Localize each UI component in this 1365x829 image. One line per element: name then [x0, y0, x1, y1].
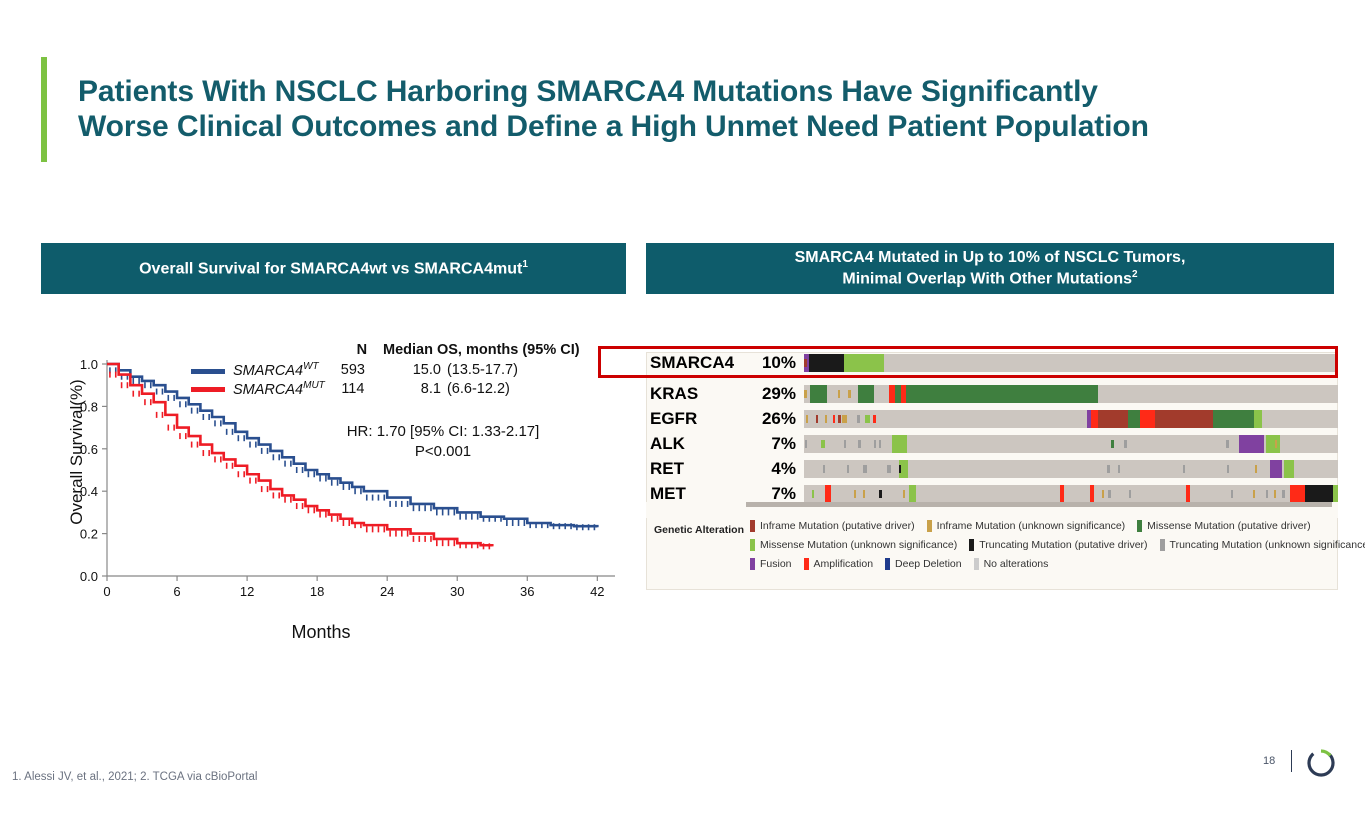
alteration-cell — [847, 465, 849, 473]
alteration-cell — [1226, 440, 1229, 448]
alteration-cell — [863, 490, 866, 498]
gene-percentage: 7% — [742, 433, 796, 455]
legend-swatch — [750, 558, 755, 570]
oncoprint-row-smarca4: SMARCA410% — [646, 352, 1338, 374]
km-legend-swatch-mut — [191, 387, 225, 392]
legend-divider — [746, 502, 1332, 507]
panel-header-mutation-frequency: SMARCA4 Mutated in Up to 10% of NSCLC Tu… — [646, 243, 1334, 294]
alteration-cell — [1118, 465, 1120, 473]
alteration-cell — [825, 415, 827, 423]
alteration-cell — [1266, 490, 1268, 498]
gene-percentage: 29% — [742, 383, 796, 405]
alteration-cell — [874, 440, 876, 448]
alteration-cell — [1107, 465, 1110, 473]
alteration-track — [804, 354, 1338, 372]
y-axis-label: Overall Survival(%) — [67, 352, 87, 552]
oncoprint-row-ret: RET4% — [646, 458, 1338, 480]
km-legend-swatch-wt — [191, 369, 225, 374]
oncoprint-row-egfr: EGFR26% — [646, 408, 1338, 430]
legend-label: Truncating Mutation (unknown significanc… — [1170, 539, 1365, 551]
legend-label: Missense Mutation (unknown significance) — [760, 539, 957, 551]
km-legend-label-wt: SMARCA4 — [233, 363, 303, 379]
alteration-cell — [1239, 435, 1264, 453]
alteration-cell — [854, 490, 856, 498]
km-legend-row-wt: SMARCA4WT 593 15.0 (13.5-17.7) — [191, 361, 580, 380]
legend-item: Missense Mutation (putative driver) — [1137, 520, 1310, 532]
alteration-track — [804, 410, 1338, 428]
legend-swatch — [885, 558, 890, 570]
legend-swatch — [1160, 539, 1165, 551]
legend-item: Inframe Mutation (putative driver) — [750, 520, 915, 532]
alteration-cell — [1128, 410, 1141, 428]
alteration-cell — [1266, 435, 1280, 453]
x-tick-label: 36 — [520, 584, 534, 599]
p-value-text: P<0.001 — [313, 442, 573, 462]
legend-swatch — [804, 558, 809, 570]
legend-item: Deep Deletion — [885, 558, 962, 570]
alteration-track — [804, 485, 1338, 503]
alteration-cell — [1274, 490, 1276, 498]
km-legend-n-wt: 593 — [341, 361, 383, 380]
alteration-track — [804, 385, 1338, 403]
gene-label: KRAS — [650, 383, 742, 405]
alteration-cell — [899, 465, 901, 473]
legend-row: Inframe Mutation (putative driver)Infram… — [750, 520, 1336, 532]
alteration-cell — [1227, 465, 1229, 473]
alteration-track — [804, 435, 1338, 453]
km-legend-ci-mut: (6.6-12.2) — [447, 380, 580, 399]
km-legend-label-mut: SMARCA4 — [233, 382, 303, 398]
alteration-cell — [873, 415, 875, 423]
alteration-cell — [1129, 490, 1131, 498]
x-tick-label: 6 — [173, 584, 180, 599]
gene-label: ALK — [650, 433, 742, 455]
page-title-line-1: Patients With NSCLC Harboring SMARCA4 Mu… — [78, 75, 1258, 110]
alteration-cell — [863, 465, 867, 473]
legend-item: Missense Mutation (unknown significance) — [750, 539, 957, 551]
alteration-cell — [906, 385, 1098, 403]
y-tick-label: 0.0 — [80, 569, 98, 584]
legend-items-container: Inframe Mutation (putative driver)Infram… — [750, 520, 1336, 577]
x-tick-label: 30 — [450, 584, 464, 599]
alteration-cell — [909, 485, 916, 503]
legend-row: FusionAmplificationDeep DeletionNo alter… — [750, 558, 1336, 570]
gene-label: RET — [650, 458, 742, 480]
alteration-cell — [833, 415, 835, 423]
legend-label: No alterations — [984, 558, 1049, 570]
page-title: Patients With NSCLC Harboring SMARCA4 Mu… — [78, 75, 1258, 145]
alteration-cell — [879, 490, 882, 498]
km-statistics: HR: 1.70 [95% CI: 1.33-2.17] P<0.001 — [313, 422, 573, 463]
gene-percentage: 26% — [742, 408, 796, 430]
alteration-cell — [1275, 440, 1277, 448]
alteration-cell — [1102, 490, 1104, 498]
alteration-cell — [1060, 485, 1063, 503]
oncoprint-row-kras: KRAS29% — [646, 383, 1338, 405]
alteration-cell — [842, 415, 847, 423]
alteration-cell — [804, 390, 807, 398]
alteration-cell — [887, 465, 891, 473]
footnote-references: 1. Alessi JV, et al., 2021; 2. TCGA via … — [12, 771, 257, 783]
alteration-cell — [879, 440, 881, 448]
legend-swatch — [750, 520, 755, 532]
alteration-cell — [858, 385, 874, 403]
x-tick-label: 24 — [380, 584, 394, 599]
alteration-cell — [892, 435, 907, 453]
km-legend-header-n: N — [341, 342, 383, 361]
legend-item: Fusion — [750, 558, 792, 570]
alteration-cell — [1090, 485, 1094, 503]
legend-label: Inframe Mutation (unknown significance) — [937, 520, 1126, 532]
alteration-cell — [812, 490, 814, 498]
alteration-cell — [1270, 460, 1282, 478]
alteration-cell — [1213, 410, 1256, 428]
company-logo-ring-icon — [1303, 745, 1339, 781]
alteration-cell — [1253, 490, 1255, 498]
alteration-cell — [1155, 410, 1219, 428]
x-tick-label: 18 — [310, 584, 324, 599]
alteration-cell — [1333, 485, 1338, 503]
alteration-cell — [903, 490, 905, 498]
panel-header-left-text: Overall Survival for SMARCA4wt vs SMARCA… — [139, 260, 522, 277]
alteration-cell — [1124, 440, 1126, 448]
alteration-cell — [1108, 490, 1110, 498]
alteration-cell — [825, 485, 830, 503]
alteration-cell — [1111, 440, 1114, 448]
alteration-cell — [805, 440, 807, 448]
alteration-cell — [1254, 410, 1263, 428]
km-legend-row-mut: SMARCA4MUT 114 8.1 (6.6-12.2) — [191, 380, 580, 399]
legend-label: Deep Deletion — [895, 558, 962, 570]
alteration-cell — [823, 465, 825, 473]
alteration-cell — [858, 440, 860, 448]
oncoprint-chart: SMARCA410%KRAS29%EGFR26%ALK7%RET4%MET7% … — [646, 352, 1338, 597]
oncoprint-rows: SMARCA410%KRAS29%EGFR26%ALK7%RET4%MET7% — [646, 352, 1338, 505]
alteration-cell — [848, 390, 851, 398]
hazard-ratio-text: HR: 1.70 [95% CI: 1.33-2.17] — [313, 422, 573, 442]
alteration-cell — [1186, 485, 1190, 503]
alteration-cell — [844, 354, 884, 372]
legend-title: Genetic Alteration — [652, 524, 744, 536]
alteration-cell — [809, 354, 844, 372]
legend-item: Amplification — [804, 558, 874, 570]
legend-label: Missense Mutation (putative driver) — [1147, 520, 1310, 532]
alteration-cell — [895, 385, 901, 403]
km-legend-median-mut: 8.1 — [383, 380, 447, 399]
legend-item: No alterations — [974, 558, 1049, 570]
alteration-cell — [1231, 490, 1233, 498]
panel-header-right-superscript: 2 — [1132, 269, 1138, 280]
legend-row: Missense Mutation (unknown significance)… — [750, 539, 1336, 551]
legend-swatch — [927, 520, 932, 532]
alteration-cell — [1183, 465, 1185, 473]
legend-label: Amplification — [814, 558, 874, 570]
legend-label: Inframe Mutation (putative driver) — [760, 520, 915, 532]
km-legend-header-median: Median OS, months (95% CI) — [383, 342, 580, 361]
kaplan-meier-chart: 0.00.20.40.60.81.006121824303642 N Media… — [41, 330, 626, 655]
oncoprint-legend: Genetic Alteration Inframe Mutation (put… — [646, 502, 1338, 518]
alteration-track — [804, 460, 1338, 478]
alteration-cell — [838, 390, 840, 398]
km-legend-sup-mut: MUT — [303, 380, 325, 391]
legend-swatch — [750, 539, 755, 551]
alteration-cell — [844, 440, 846, 448]
km-legend-table: N Median OS, months (95% CI) SMARCA4WT 5… — [191, 342, 580, 399]
panel-header-right-line-2: Minimal Overlap With Other Mutations — [842, 271, 1132, 288]
gene-label: SMARCA4 — [650, 352, 742, 374]
legend-swatch — [974, 558, 979, 570]
gene-label: EGFR — [650, 408, 742, 430]
x-tick-label: 0 — [103, 584, 110, 599]
legend-item: Truncating Mutation (unknown significanc… — [1160, 539, 1365, 551]
x-axis-label: Months — [221, 622, 421, 643]
km-legend-median-wt: 15.0 — [383, 361, 447, 380]
legend-label: Truncating Mutation (putative driver) — [979, 539, 1147, 551]
alteration-cell — [1282, 490, 1284, 498]
legend-swatch — [969, 539, 974, 551]
alteration-cell — [865, 415, 870, 423]
panel-header-overall-survival: Overall Survival for SMARCA4wt vs SMARCA… — [41, 243, 626, 294]
gene-percentage: 10% — [742, 352, 796, 374]
panel-header-right-line-1: SMARCA4 Mutated in Up to 10% of NSCLC Tu… — [795, 249, 1186, 266]
alteration-cell — [1255, 465, 1257, 473]
alteration-cell — [816, 415, 819, 423]
legend-label: Fusion — [760, 558, 792, 570]
legend-swatch — [1137, 520, 1142, 532]
panel-header-left-superscript: 1 — [522, 259, 528, 270]
page-number: 18 — [1263, 755, 1275, 767]
km-legend-sup-wt: WT — [303, 361, 319, 372]
x-tick-label: 42 — [590, 584, 604, 599]
oncoprint-row-alk: ALK7% — [646, 433, 1338, 455]
title-accent-bar — [41, 57, 47, 162]
alteration-cell — [804, 359, 807, 367]
alteration-cell — [857, 415, 859, 423]
gene-percentage: 4% — [742, 458, 796, 480]
alteration-cell — [821, 440, 825, 448]
footer-divider — [1291, 750, 1292, 772]
km-legend-n-mut: 114 — [341, 380, 383, 399]
alteration-cell — [806, 415, 808, 423]
x-tick-label: 12 — [240, 584, 254, 599]
page-title-line-2: Worse Clinical Outcomes and Define a Hig… — [78, 110, 1258, 145]
km-legend-ci-wt: (13.5-17.7) — [447, 361, 580, 380]
legend-item: Truncating Mutation (putative driver) — [969, 539, 1147, 551]
alteration-cell — [1305, 485, 1335, 503]
alteration-cell — [810, 385, 827, 403]
legend-item: Inframe Mutation (unknown significance) — [927, 520, 1126, 532]
alteration-cell — [838, 415, 841, 423]
alteration-cell — [1284, 460, 1295, 478]
